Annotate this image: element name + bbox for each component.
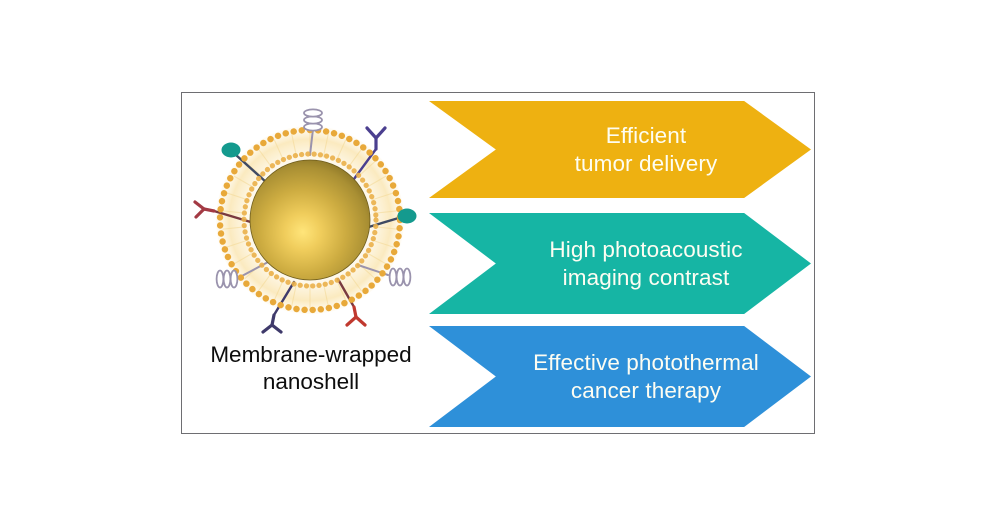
banner-delivery-line-2: tumor delivery	[481, 150, 811, 178]
nanoshell-illustration	[186, 99, 434, 345]
antibody-bottom-right-icon	[347, 307, 365, 325]
banner-imaging-line-1: High photoacoustic	[481, 236, 811, 264]
banner-stack: Efficient tumor delivery High photoacous…	[429, 93, 816, 435]
peg-coil-bottom-right-icon	[390, 269, 411, 286]
nanoshell-caption: Membrane-wrapped nanoshell	[182, 341, 440, 395]
banner-imaging-line-2: imaging contrast	[481, 264, 811, 292]
banner-delivery-line-1: Efficient	[481, 122, 811, 150]
receptor-top-left-icon	[222, 143, 241, 158]
banner-effective-photothermal-cancer-therapy: Effective photothermal cancer therapy	[429, 326, 811, 427]
antibody-left-icon	[195, 202, 214, 217]
banner-imaging-label: High photoacoustic imaging contrast	[429, 236, 811, 291]
peg-coil-bottom-left-icon	[217, 271, 238, 288]
banner-therapy-line-1: Effective photothermal	[481, 349, 811, 377]
banner-delivery-label: Efficient tumor delivery	[429, 122, 811, 177]
figure-frame: Membrane-wrapped nanoshell Efficient tum…	[181, 92, 815, 434]
receptor-right-icon	[398, 209, 417, 224]
banner-high-photoacoustic-imaging-contrast: High photoacoustic imaging contrast	[429, 213, 811, 314]
gold-nanoshell-core	[250, 160, 370, 280]
nanoshell-caption-line-2: nanoshell	[182, 368, 440, 395]
banner-therapy-line-2: cancer therapy	[481, 377, 811, 405]
banner-efficient-tumor-delivery: Efficient tumor delivery	[429, 101, 811, 198]
peg-coil-top-icon	[304, 109, 322, 130]
banner-therapy-label: Effective photothermal cancer therapy	[429, 349, 811, 404]
antibody-bottom-left-icon	[263, 315, 281, 332]
figure-canvas: Membrane-wrapped nanoshell Efficient tum…	[0, 0, 1000, 523]
antibody-top-right-icon	[367, 128, 385, 149]
nanoshell-caption-line-1: Membrane-wrapped	[182, 341, 440, 368]
